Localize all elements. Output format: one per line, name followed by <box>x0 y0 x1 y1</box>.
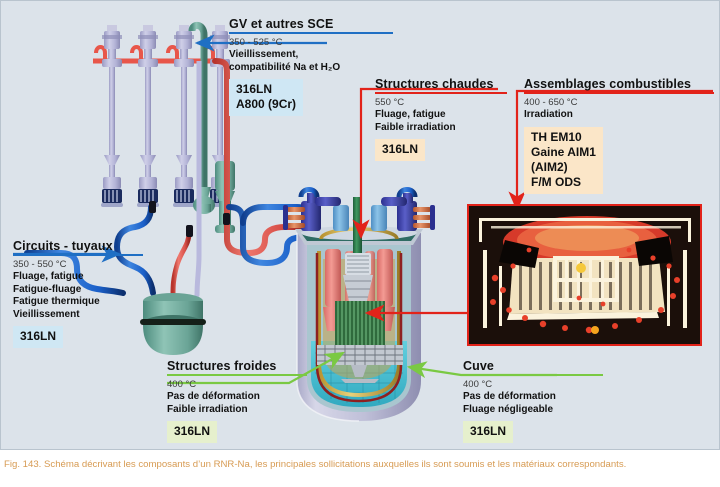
callout-line: Pas de déformation <box>167 391 307 404</box>
callout-rule <box>375 92 507 94</box>
callout-line: Vieillissement <box>13 309 143 322</box>
callout-line: Pas de déformation <box>463 391 603 404</box>
callout-rule <box>524 92 714 94</box>
material-name: (AIM2) <box>531 160 596 175</box>
material-box: 316LN <box>167 421 217 443</box>
material-name: 316LN <box>174 424 210 439</box>
material-name: 316LN <box>470 424 506 439</box>
callout-temperature: 350 - 550 °C <box>13 259 143 271</box>
material-box: 316LN <box>375 139 425 161</box>
callout-line: Fatigue thermique <box>13 296 143 309</box>
photo-content <box>469 206 700 344</box>
callout-materials: 316LN <box>375 134 507 161</box>
callout-cuve: Cuve 400 °C Pas de déformation Fluage né… <box>463 359 603 443</box>
material-box: TH EM10 Gaine AIM1 (AIM2) F/M ODS <box>524 127 603 194</box>
callout-line: Fluage, fatigue <box>375 109 507 122</box>
callout-title: GV et autres SCE <box>229 17 393 31</box>
material-name: 316LN <box>20 329 56 344</box>
callout-materials: TH EM10 Gaine AIM1 (AIM2) F/M ODS <box>524 122 714 194</box>
expansion-tank <box>140 293 206 355</box>
callout-temperature: 400 °C <box>167 379 307 391</box>
callout-circuits-tuyaux: Circuits - tuyaux 350 - 550 °C Fluage, f… <box>13 239 143 348</box>
callout-title: Circuits - tuyaux <box>13 239 143 253</box>
callout-temperature: 550 °C <box>375 97 507 109</box>
material-box: 316LN <box>463 421 513 443</box>
figure-caption: Fig. 143. Schéma décrivant les composant… <box>4 459 718 471</box>
material-name: F/M ODS <box>531 175 596 190</box>
callout-rule <box>167 374 307 376</box>
material-box: 316LN <box>13 326 63 348</box>
steam-generator-modules <box>93 25 231 207</box>
callout-assemblages-combustibles: Assemblages combustibles 400 - 650 °C Ir… <box>524 77 714 194</box>
callout-structures-froides: Structures froides 400 °C Pas de déforma… <box>167 359 307 443</box>
callout-temperature: 350 - 525 °C <box>229 37 393 49</box>
callout-gv-et-autres-sce: GV et autres SCE 350 - 525 °C Vieillisse… <box>229 17 393 116</box>
callout-line: Fluage, fatigue <box>13 271 143 284</box>
material-name: A800 (9Cr) <box>236 97 296 112</box>
callout-rule <box>463 374 603 376</box>
callout-line: Faible irradiation <box>375 122 507 135</box>
callout-temperature: 400 °C <box>463 379 603 391</box>
callout-title: Structures froides <box>167 359 307 373</box>
callout-materials: 316LN A800 (9Cr) <box>229 74 393 116</box>
callout-materials: 316LN <box>13 321 143 348</box>
figure-panel: GV et autres SCE 350 - 525 °C Vieillisse… <box>0 0 720 450</box>
callout-rule <box>13 254 143 256</box>
material-name: 316LN <box>236 82 296 97</box>
callout-line: Faible irradiation <box>167 404 307 417</box>
callout-rule <box>229 32 393 34</box>
material-box: 316LN A800 (9Cr) <box>229 79 303 116</box>
callout-line: compatibilité Na et H₂O <box>229 62 393 75</box>
callout-title: Assemblages combustibles <box>524 77 714 91</box>
callout-line: Fatigue-fluage <box>13 284 143 297</box>
fuel-assembly-bundle-photograph <box>467 204 702 346</box>
callout-title: Structures chaudes <box>375 77 507 91</box>
callout-temperature: 400 - 650 °C <box>524 97 714 109</box>
callout-line: Fluage négligeable <box>463 404 603 417</box>
material-name: Gaine AIM1 <box>531 145 596 160</box>
callout-title: Cuve <box>463 359 603 373</box>
callout-structures-chaudes: Structures chaudes 550 °C Fluage, fatigu… <box>375 77 507 161</box>
callout-materials: 316LN <box>463 416 603 443</box>
callout-line: Irradiation <box>524 109 714 122</box>
material-name: TH EM10 <box>531 130 596 145</box>
callout-materials: 316LN <box>167 416 307 443</box>
material-name: 316LN <box>382 142 418 157</box>
callout-line: Vieillissement, <box>229 49 393 62</box>
